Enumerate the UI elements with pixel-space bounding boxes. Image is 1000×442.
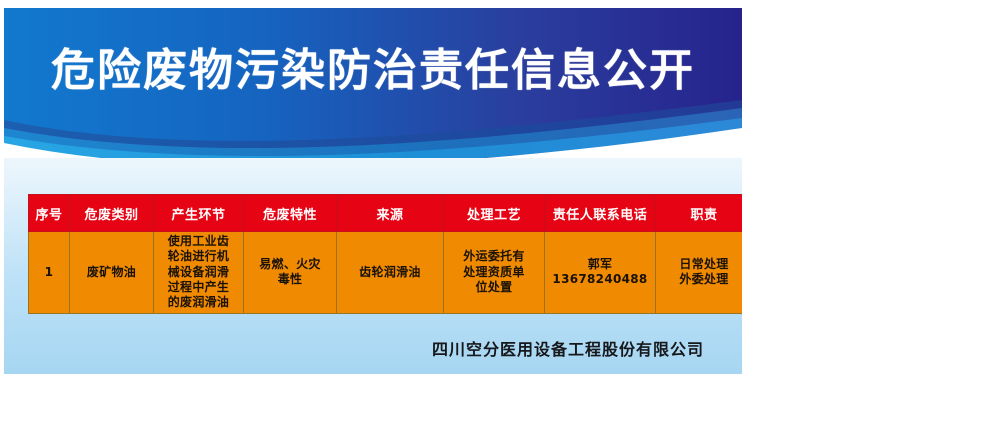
page-title: 危险废物污染防治责任信息公开 — [4, 49, 742, 93]
column-header-source: 来源 — [337, 195, 444, 232]
cell-hazard-line-2: 毒性 — [246, 272, 334, 287]
column-header-contact: 责任人联系电话 — [545, 195, 656, 232]
column-header-hazard: 危废特性 — [244, 195, 337, 232]
cell-duty-line-2: 外委处理 — [658, 272, 742, 287]
column-header-category: 危废类别 — [70, 195, 154, 232]
column-header-process: 处理工艺 — [444, 195, 545, 232]
table-row: 1 废矿物油 使用工业齿 轮油进行机 械设备润滑 过程中产生 的废润滑油 易燃、… — [29, 232, 743, 314]
hazardous-waste-table: 序号 危废类别 产生环节 危废特性 来源 处理工艺 责任人联系电话 职责 1 废… — [28, 194, 742, 314]
cell-process-line-1: 外运委托有 — [446, 249, 542, 264]
cell-stage-line-5: 的废润滑油 — [156, 295, 241, 310]
cell-stage: 使用工业齿 轮油进行机 械设备润滑 过程中产生 的废润滑油 — [154, 232, 244, 314]
cell-source: 齿轮润滑油 — [337, 232, 444, 314]
column-header-stage: 产生环节 — [154, 195, 244, 232]
cell-duty-line-1: 日常处理 — [658, 257, 742, 272]
cell-process-line-3: 位处置 — [446, 280, 542, 295]
information-disclosure-poster: 危险废物污染防治责任信息公开 序号 危废类别 产生环节 危废特性 来源 处理工艺… — [4, 8, 742, 374]
cell-seq: 1 — [29, 232, 70, 314]
table-header-row: 序号 危废类别 产生环节 危废特性 来源 处理工艺 责任人联系电话 职责 — [29, 195, 743, 232]
cell-stage-line-4: 过程中产生 — [156, 280, 241, 295]
company-name: 四川空分医用设备工程股份有限公司 — [4, 336, 704, 360]
cell-duty: 日常处理 外委处理 — [656, 232, 743, 314]
cell-process-line-2: 处理资质单 — [446, 265, 542, 280]
cell-process: 外运委托有 处理资质单 位处置 — [444, 232, 545, 314]
cell-stage-line-2: 轮油进行机 — [156, 249, 241, 264]
poster-banner: 危险废物污染防治责任信息公开 — [4, 8, 742, 158]
cell-contact-phone: 13678240488 — [547, 272, 653, 287]
cell-category: 废矿物油 — [70, 232, 154, 314]
column-header-duty: 职责 — [656, 195, 743, 232]
cell-stage-line-1: 使用工业齿 — [156, 234, 241, 249]
cell-hazard-line-1: 易燃、火灾 — [246, 257, 334, 272]
cell-stage-line-3: 械设备润滑 — [156, 265, 241, 280]
cell-contact-name: 郭军 — [547, 257, 653, 272]
cell-hazard: 易燃、火灾 毒性 — [244, 232, 337, 314]
cell-contact: 郭军 13678240488 — [545, 232, 656, 314]
column-header-seq: 序号 — [29, 195, 70, 232]
